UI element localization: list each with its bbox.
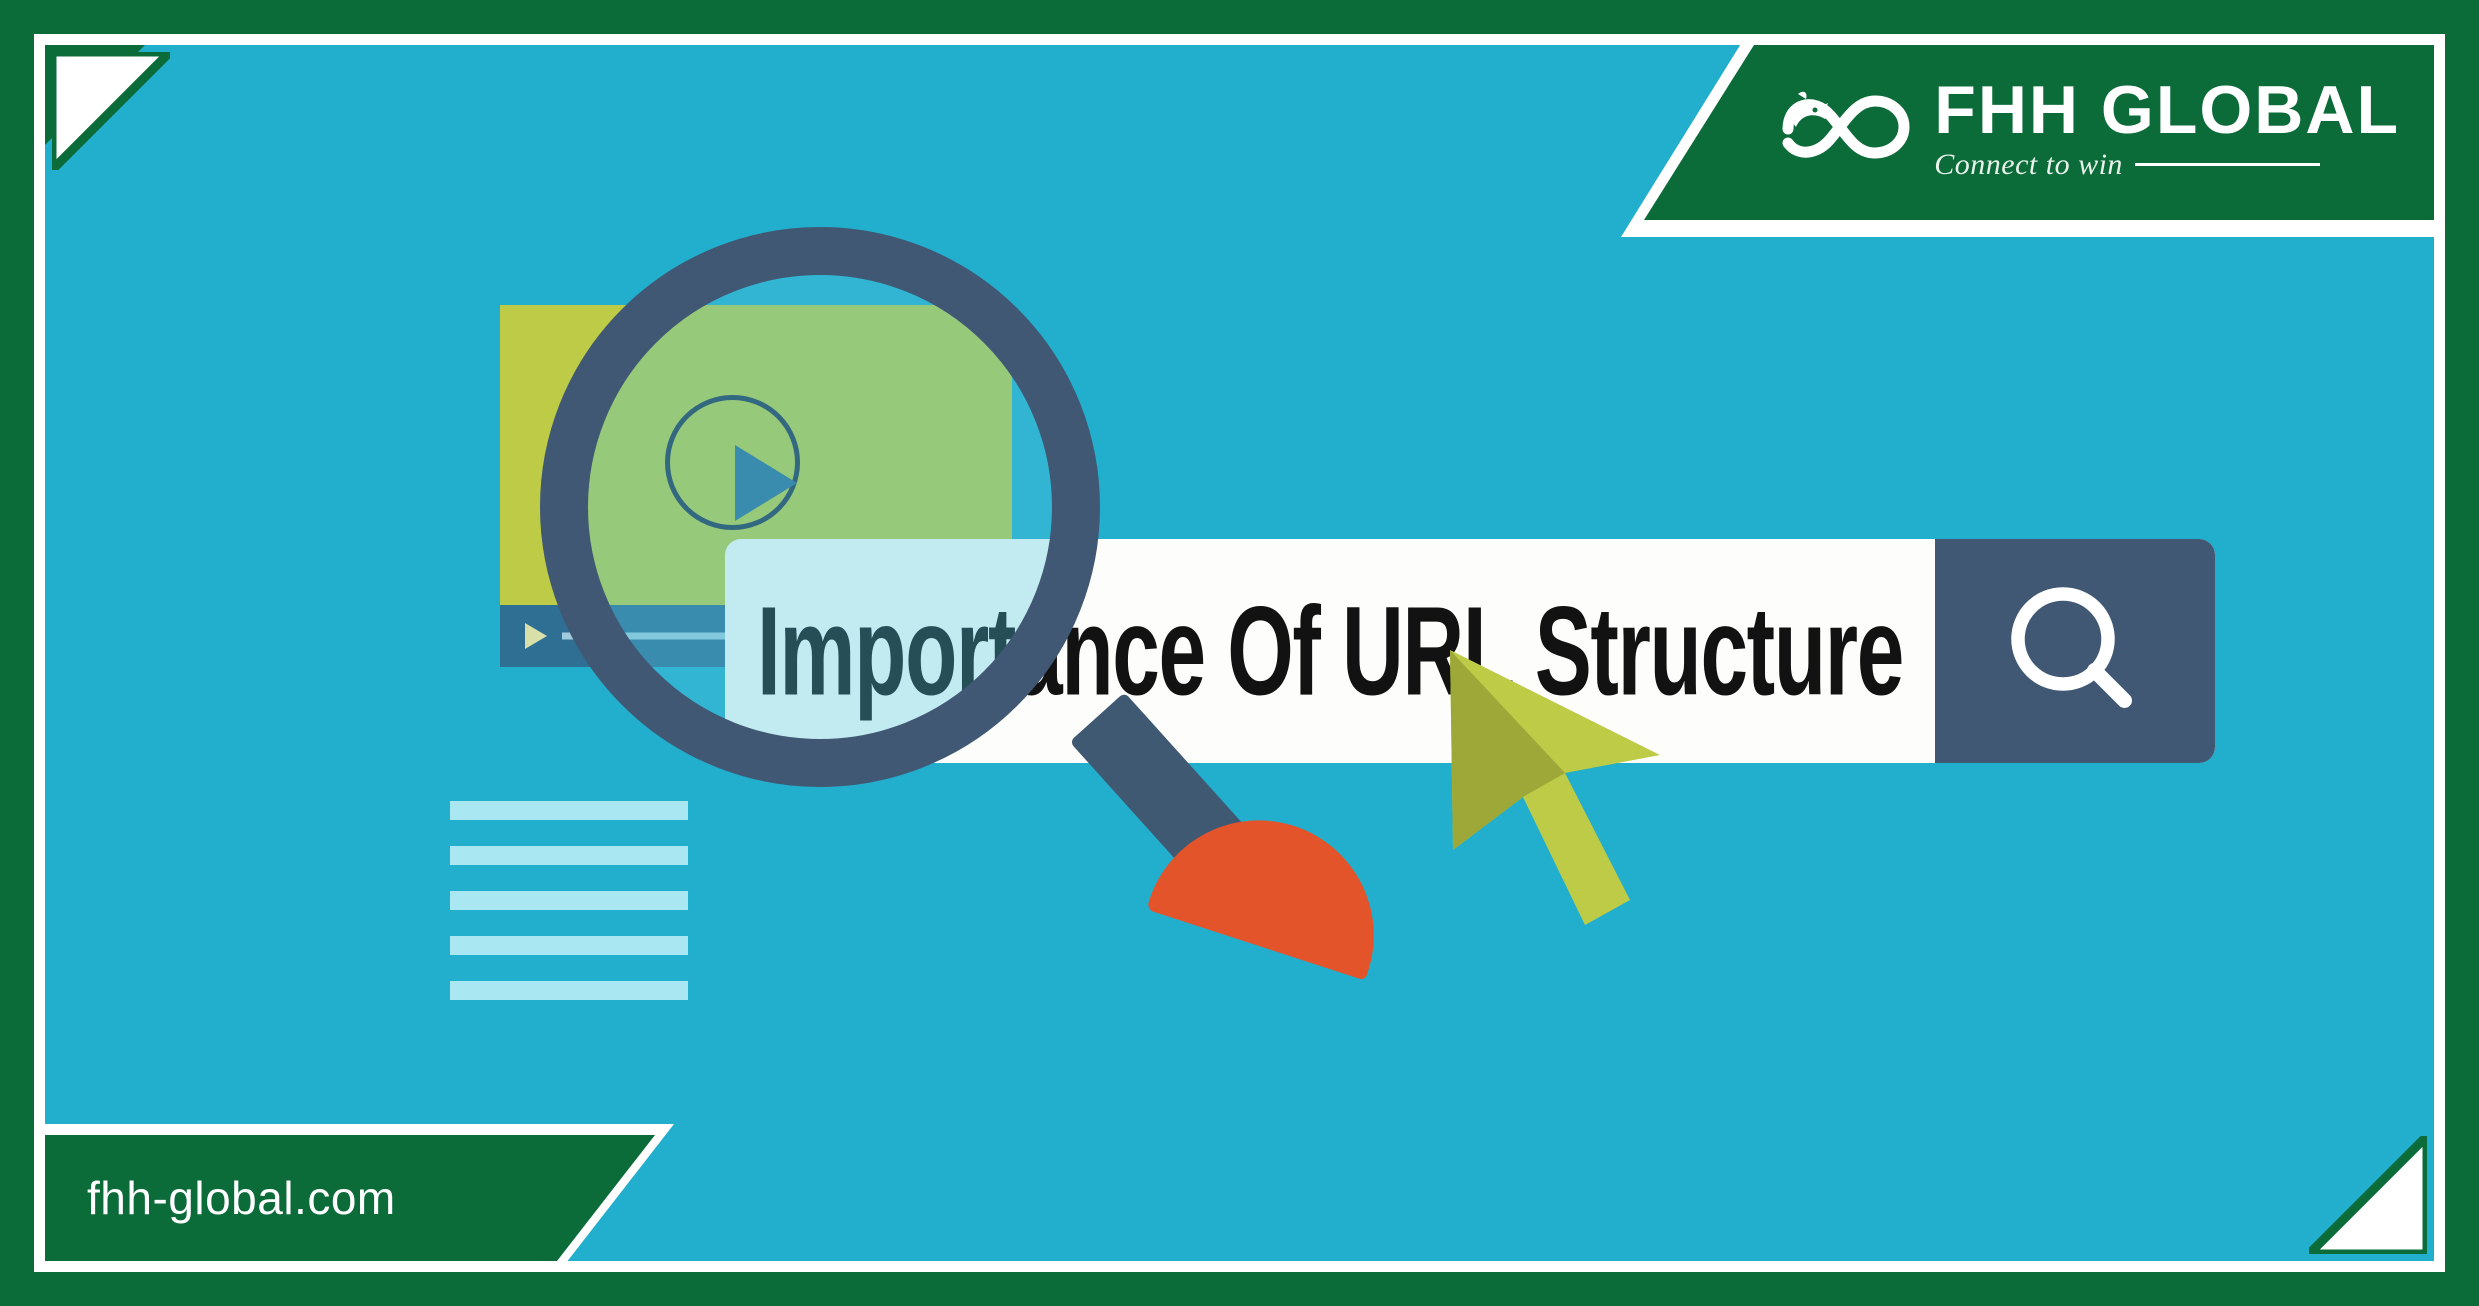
brand-tagline-row: Connect to win xyxy=(1934,148,2400,182)
play-small-icon[interactable] xyxy=(525,623,547,649)
play-triangle-icon xyxy=(735,445,797,521)
list-item xyxy=(450,981,688,1000)
poster-frame: Importance Of URL Structure xyxy=(0,0,2479,1306)
search-icon xyxy=(2000,576,2150,726)
brand-logo[interactable]: FHH GLOBAL Connect to win xyxy=(1768,67,2400,192)
page-title: Importance Of URL Structure xyxy=(757,579,1903,724)
placeholder-text-lines xyxy=(450,801,688,1026)
brand-tagline: Connect to win xyxy=(1934,148,2123,182)
search-button[interactable] xyxy=(1935,539,2215,763)
brand-text: FHH GLOBAL Connect to win xyxy=(1934,77,2400,182)
corner-triangle-icon xyxy=(2309,1136,2427,1254)
list-item xyxy=(450,846,688,865)
brand-name: FHH GLOBAL xyxy=(1934,77,2400,144)
list-item xyxy=(450,936,688,955)
dragon-infinity-icon xyxy=(1768,67,1918,192)
magnifier-grip xyxy=(1146,791,1403,981)
list-item xyxy=(450,801,688,820)
list-item xyxy=(450,891,688,910)
tagline-divider xyxy=(2135,163,2320,166)
logo-banner: FHH GLOBAL Connect to win xyxy=(1644,45,2434,220)
corner-triangle-icon xyxy=(52,52,170,170)
mouse-cursor-arrow-icon xyxy=(1445,645,1675,935)
website-url[interactable]: fhh-global.com xyxy=(87,1171,396,1225)
url-banner[interactable]: fhh-global.com xyxy=(45,1135,655,1261)
